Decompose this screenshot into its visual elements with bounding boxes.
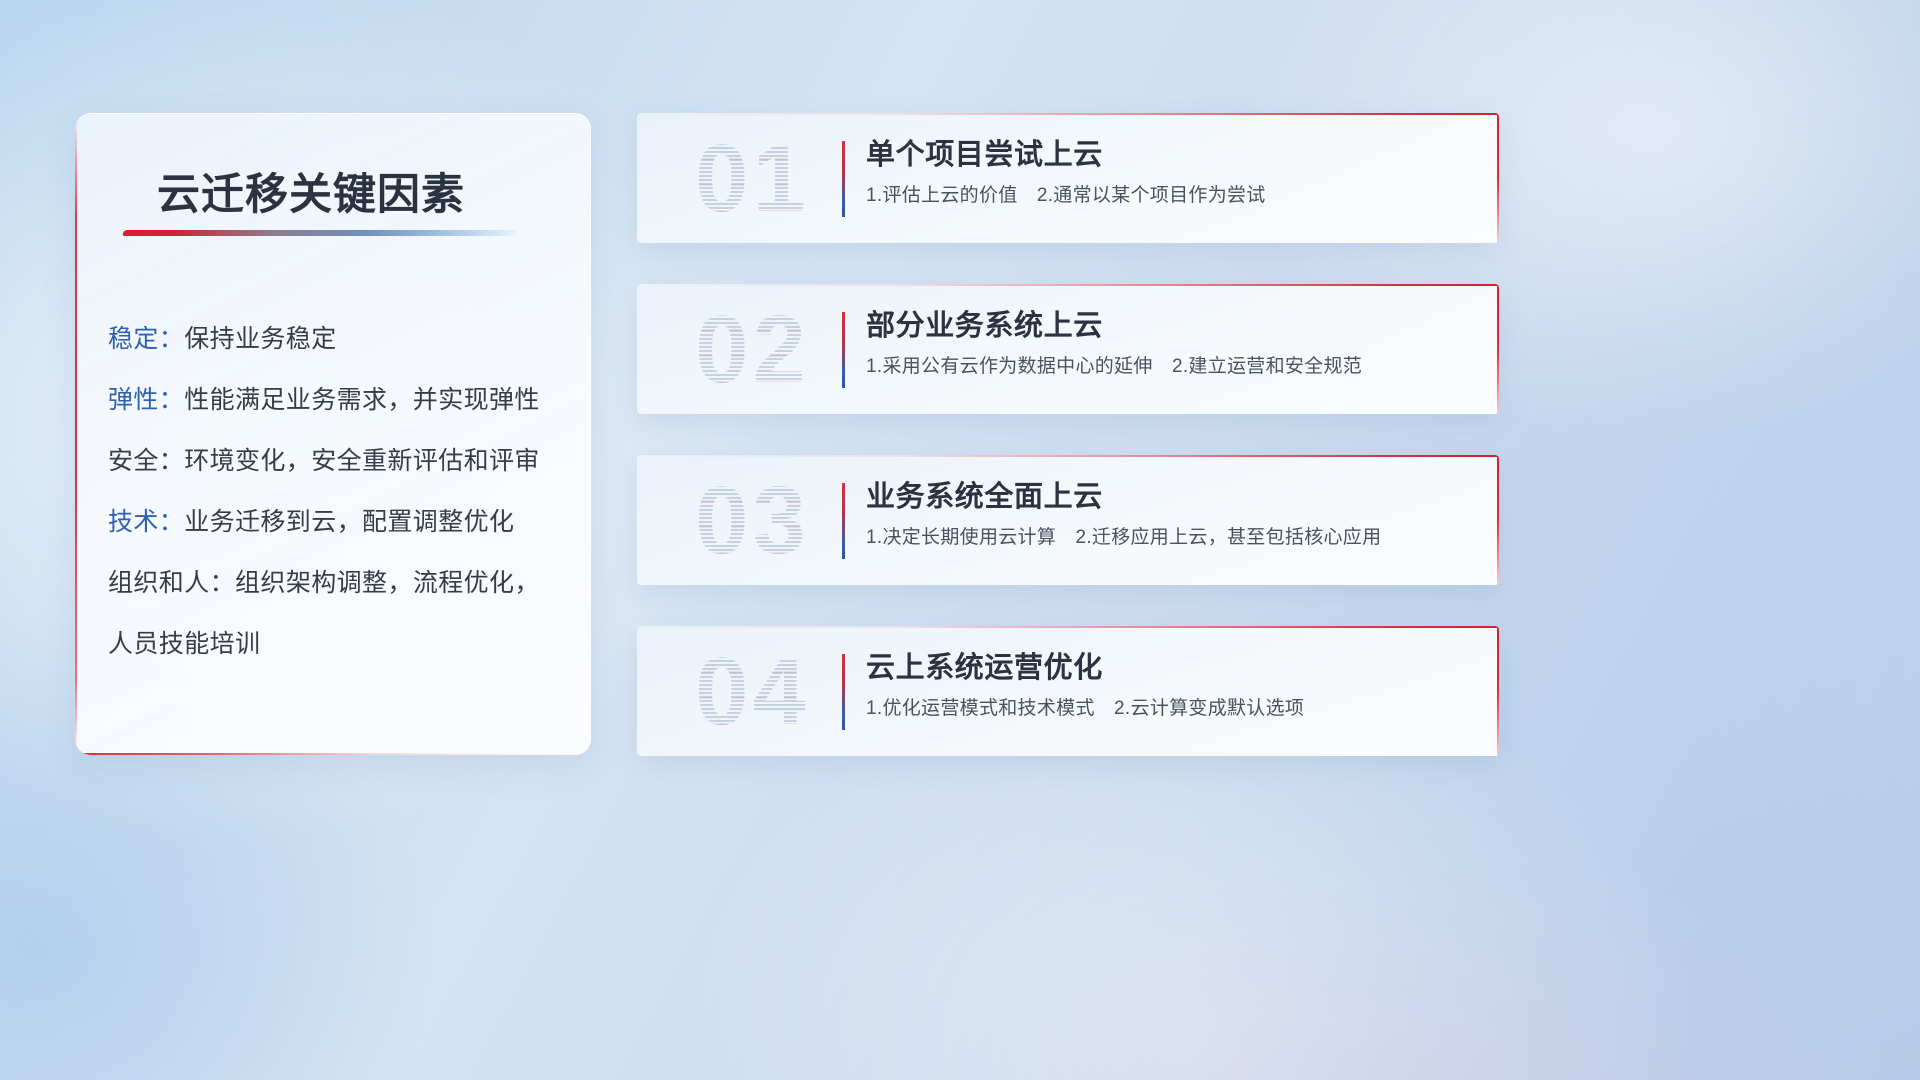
- step-content: 业务系统全面上云 1.决定长期使用云计算 2.迁移应用上云，甚至包括核心应用: [866, 477, 1473, 552]
- list-item: 安全：环境变化，安全重新评估和评审: [108, 431, 566, 492]
- step-description: 1.评估上云的价值 2.通常以某个项目作为尝试: [866, 182, 1473, 210]
- step-card-02[interactable]: 02 02 部分业务系统上云 1.采用公有云作为数据中心的延伸 2.建立运营和安…: [637, 284, 1499, 414]
- step-description: 1.优化运营模式和技术模式 2.云计算变成默认选项: [866, 695, 1473, 723]
- step-description: 1.采用公有云作为数据中心的延伸 2.建立运营和安全规范: [866, 353, 1473, 381]
- step-title: 云上系统运营优化: [866, 648, 1473, 688]
- list-item: 人员技能培训: [108, 614, 566, 675]
- list-item: 组织和人：组织架构调整，流程优化，: [108, 553, 566, 614]
- step-divider-bar: [842, 654, 845, 730]
- migration-steps-list: 01 01 单个项目尝试上云 1.评估上云的价值 2.通常以某个项目作为尝试 0…: [637, 113, 1499, 797]
- step-description: 1.决定长期使用云计算 2.迁移应用上云，甚至包括核心应用: [866, 524, 1473, 552]
- factor-label: 技术：: [108, 508, 184, 536]
- factor-label: 稳定：: [108, 325, 184, 353]
- step-title: 业务系统全面上云: [866, 477, 1473, 517]
- factor-value: 保持业务稳定: [184, 325, 336, 353]
- factor-value: 环境变化，安全重新评估和评审: [184, 447, 540, 475]
- factor-value: 组织架构调整，流程优化，: [235, 569, 540, 597]
- key-factors-list: 稳定：保持业务稳定 弹性：性能满足业务需求，并实现弹性 安全：环境变化，安全重新…: [108, 309, 566, 675]
- step-title: 部分业务系统上云: [866, 306, 1473, 346]
- step-number-glitch-overlay: 01: [665, 123, 840, 235]
- page-title: 云迁移关键因素: [157, 160, 465, 222]
- factor-label: 组织和人：: [108, 569, 235, 597]
- step-card-01[interactable]: 01 01 单个项目尝试上云 1.评估上云的价值 2.通常以某个项目作为尝试: [637, 113, 1499, 243]
- step-number-glitch-overlay: 02: [665, 294, 840, 406]
- factor-value: 业务迁移到云，配置调整优化: [184, 508, 514, 536]
- step-divider-bar: [842, 312, 845, 388]
- step-number-glitch-overlay: 03: [665, 465, 840, 577]
- step-title: 单个项目尝试上云: [866, 135, 1473, 175]
- title-underline-accent: [122, 230, 518, 236]
- key-factors-panel: 云迁移关键因素 稳定：保持业务稳定 弹性：性能满足业务需求，并实现弹性 安全：环…: [75, 113, 591, 755]
- factor-label: 弹性：: [108, 386, 184, 414]
- factor-value: 性能满足业务需求，并实现弹性: [184, 386, 540, 414]
- step-number-glitch-overlay: 04: [665, 636, 840, 748]
- list-item: 弹性：性能满足业务需求，并实现弹性: [108, 370, 566, 431]
- factor-label: 安全：: [108, 447, 184, 475]
- step-content: 单个项目尝试上云 1.评估上云的价值 2.通常以某个项目作为尝试: [866, 135, 1473, 210]
- factor-value: 人员技能培训: [108, 630, 260, 658]
- step-content: 云上系统运营优化 1.优化运营模式和技术模式 2.云计算变成默认选项: [866, 648, 1473, 723]
- list-item: 稳定：保持业务稳定: [108, 309, 566, 370]
- step-card-03[interactable]: 03 03 业务系统全面上云 1.决定长期使用云计算 2.迁移应用上云，甚至包括…: [637, 455, 1499, 585]
- step-divider-bar: [842, 483, 845, 559]
- step-content: 部分业务系统上云 1.采用公有云作为数据中心的延伸 2.建立运营和安全规范: [866, 306, 1473, 381]
- list-item: 技术：业务迁移到云，配置调整优化: [108, 492, 566, 553]
- step-card-04[interactable]: 04 04 云上系统运营优化 1.优化运营模式和技术模式 2.云计算变成默认选项: [637, 626, 1499, 756]
- step-divider-bar: [842, 141, 845, 217]
